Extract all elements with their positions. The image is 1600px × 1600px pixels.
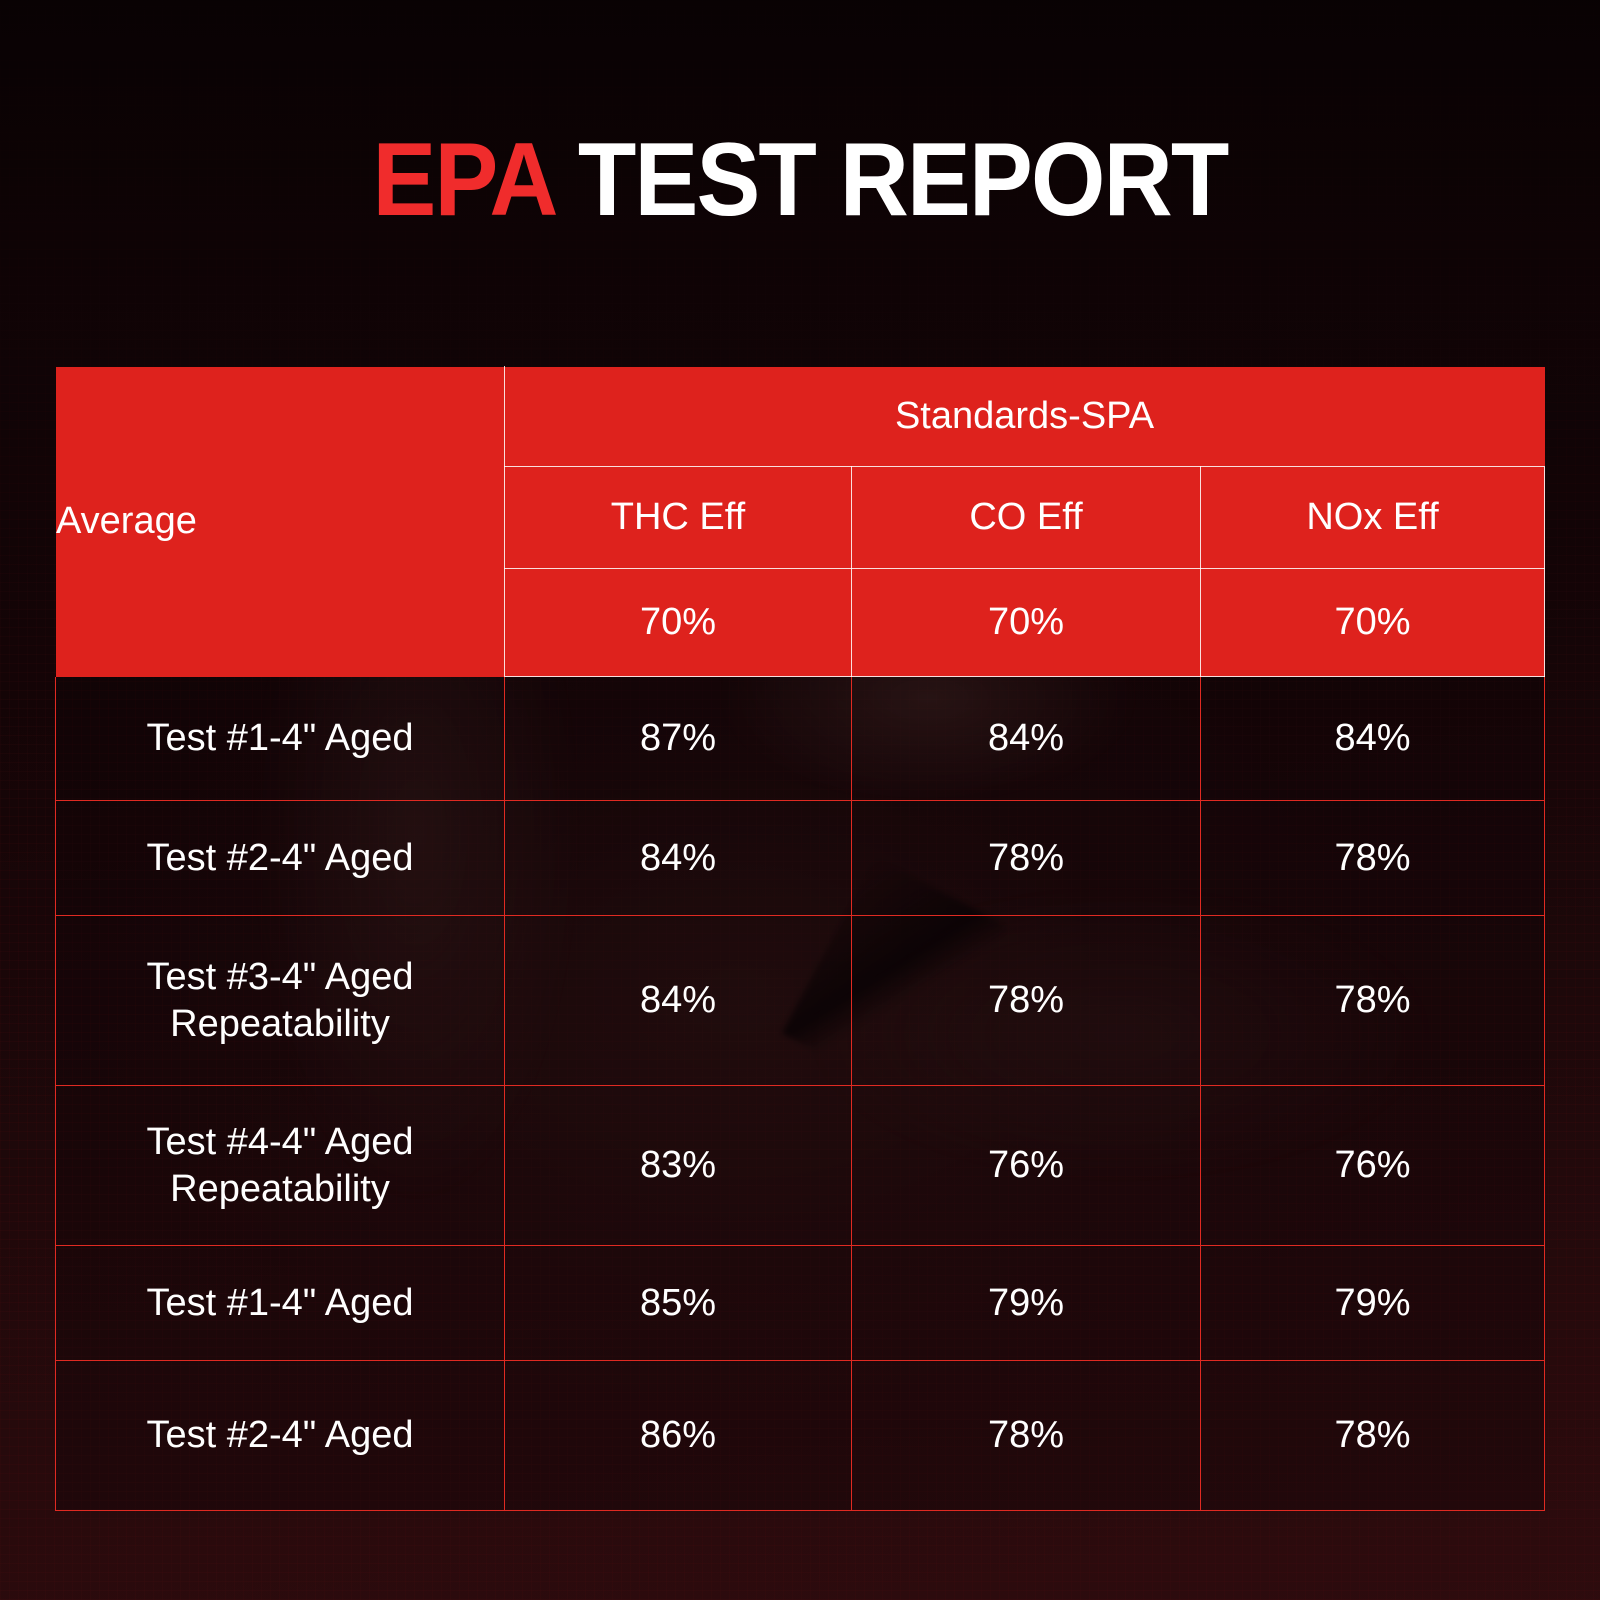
table-row: Test #1-4" Aged 85% 79% 79% [56, 1246, 1545, 1361]
page-title-accent: EPA [373, 122, 554, 238]
row-value-nox: 84% [1201, 677, 1545, 801]
row-value-co: 84% [852, 677, 1201, 801]
row-value-thc: 85% [505, 1246, 852, 1361]
epa-test-report-table: Average Standards-SPA THC Eff CO Eff NOx… [55, 366, 1545, 1511]
column-header-thc-eff: THC Eff [505, 467, 852, 569]
table-row: Test #2-4" Aged 86% 78% 78% [56, 1361, 1545, 1511]
row-value-nox: 78% [1201, 916, 1545, 1086]
standard-value-thc: 70% [505, 569, 852, 677]
row-value-thc: 84% [505, 801, 852, 916]
row-value-co: 78% [852, 1361, 1201, 1511]
standard-value-nox: 70% [1201, 569, 1545, 677]
row-value-co: 78% [852, 916, 1201, 1086]
row-value-co: 76% [852, 1086, 1201, 1246]
group-header-standards-spa: Standards-SPA [505, 367, 1545, 467]
page-title: EPA TEST REPORT [64, 128, 1536, 232]
corner-header-average: Average [56, 367, 505, 677]
row-label: Test #3-4" Aged Repeatability [56, 916, 505, 1086]
row-value-thc: 87% [505, 677, 852, 801]
row-value-nox: 78% [1201, 1361, 1545, 1511]
column-header-co-eff: CO Eff [852, 467, 1201, 569]
table-header-group-row: Average Standards-SPA [56, 367, 1545, 467]
row-value-thc: 83% [505, 1086, 852, 1246]
row-label: Test #2-4" Aged [56, 801, 505, 916]
row-value-thc: 86% [505, 1361, 852, 1511]
row-label: Test #1-4" Aged [56, 1246, 505, 1361]
row-value-co: 79% [852, 1246, 1201, 1361]
row-label: Test #4-4" Aged Repeatability [56, 1086, 505, 1246]
row-value-nox: 78% [1201, 801, 1545, 916]
column-header-nox-eff: NOx Eff [1201, 467, 1545, 569]
row-label: Test #2-4" Aged [56, 1361, 505, 1511]
report-page: EPA TEST REPORT Average Standards-SPA TH… [0, 0, 1600, 1600]
table-row: Test #2-4" Aged 84% 78% 78% [56, 801, 1545, 916]
table-row: Test #1-4" Aged 87% 84% 84% [56, 677, 1545, 801]
row-value-nox: 76% [1201, 1086, 1545, 1246]
table-row: Test #3-4" Aged Repeatability 84% 78% 78… [56, 916, 1545, 1086]
standard-value-co: 70% [852, 569, 1201, 677]
table-row: Test #4-4" Aged Repeatability 83% 76% 76… [56, 1086, 1545, 1246]
row-value-thc: 84% [505, 916, 852, 1086]
page-title-main: TEST REPORT [553, 122, 1227, 238]
row-label: Test #1-4" Aged [56, 677, 505, 801]
row-value-nox: 79% [1201, 1246, 1545, 1361]
row-value-co: 78% [852, 801, 1201, 916]
